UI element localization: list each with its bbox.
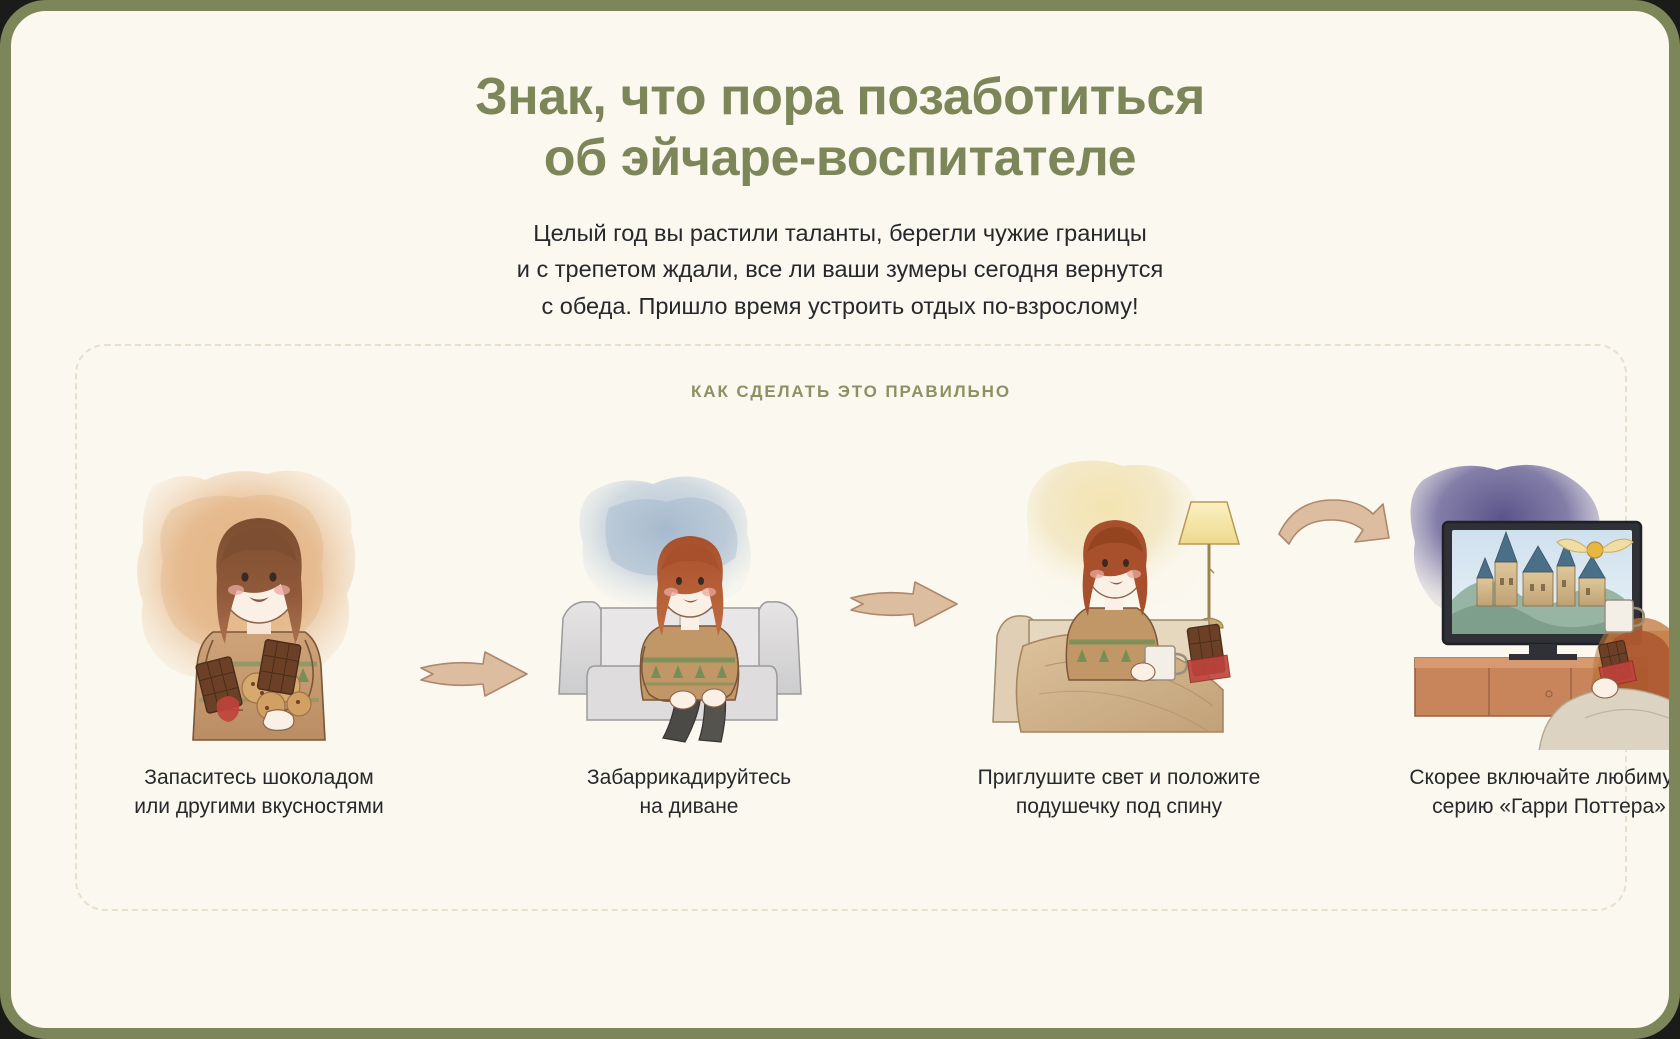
arrow-straight-right-1 — [415, 450, 533, 750]
step-item: Запаситесь шоколадом или другими вкуснос… — [103, 450, 415, 822]
page-title: Знак, что пора позаботиться об эйчаре-во… — [340, 67, 1340, 189]
step-item: Скорее включайте любимую серию «Гарри По… — [1393, 450, 1680, 822]
arrow-curved-right-3 — [1275, 450, 1393, 750]
arrow-straight-right-2 — [845, 450, 963, 750]
panel-section-label: КАК СДЕЛАТЬ ЭТО ПРАВИЛЬНО — [77, 382, 1625, 402]
illustration-girl-sitting-on-sofa — [539, 450, 839, 750]
illustration-girl-holding-chocolate-and-cookies — [109, 450, 409, 750]
step-caption: Приглушите свет и положите подушечку под… — [978, 764, 1261, 822]
step-caption: Забаррикадируйтесь на диване — [587, 764, 791, 822]
illustration-tv-showing-hogwarts-castle-with-snitch — [1399, 450, 1680, 750]
step-caption: Запаситесь шоколадом или другими вкуснос… — [134, 764, 383, 822]
step-caption: Скорее включайте любимую серию «Гарри По… — [1409, 764, 1680, 822]
poster-header: Знак, что пора позаботиться об эйчаре-во… — [11, 11, 1669, 324]
page-subtitle: Целый год вы растили таланты, берегли чу… — [460, 215, 1220, 324]
step-item: Забаррикадируйтесь на диване — [533, 450, 845, 822]
how-to-panel: КАК СДЕЛАТЬ ЭТО ПРАВИЛЬНО — [75, 344, 1627, 911]
illustration-girl-with-blanket-mug-and-lamp — [969, 450, 1269, 750]
steps-row: Запаситесь шоколадом или другими вкуснос… — [77, 450, 1625, 822]
step-item: Приглушите свет и положите подушечку под… — [963, 450, 1275, 822]
poster-card: Знак, что пора позаботиться об эйчаре-во… — [0, 0, 1680, 1039]
